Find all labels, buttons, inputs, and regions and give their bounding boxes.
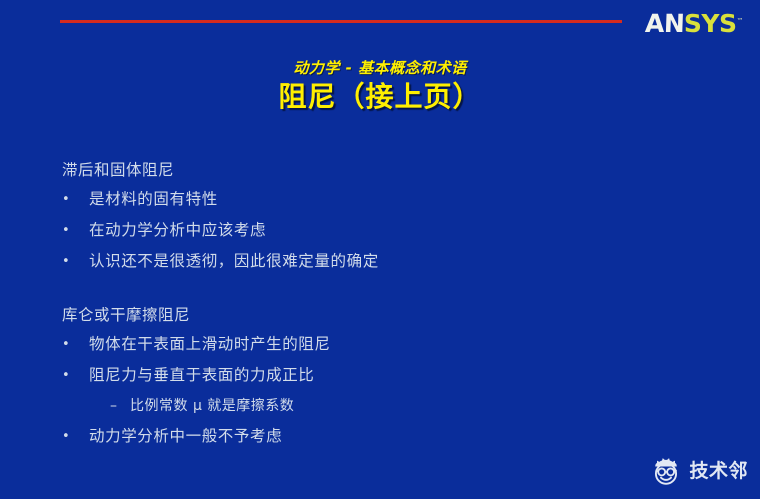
section-heading: 滞后和固体阻尼 (62, 156, 722, 184)
bullet-text: 物体在干表面上滑动时产生的阻尼 (89, 329, 722, 360)
content-section: 库仑或干摩擦阻尼 • 物体在干表面上滑动时产生的阻尼 • 阻尼力与垂直于表面的力… (62, 301, 722, 452)
bullet-text: 认识还不是很透彻，因此很难定量的确定 (89, 246, 722, 277)
slide: ANSYS™ 动力学 - 基本概念和术语 阻尼（接上页） 滞后和固体阻尼 • 是… (0, 0, 760, 499)
bullet-item: • 认识还不是很透彻，因此很难定量的确定 (62, 246, 722, 277)
header-divider-rule (60, 20, 622, 23)
bullet-text: 阻尼力与垂直于表面的力成正比 (89, 360, 722, 391)
bullet-marker: • (62, 215, 89, 246)
section-heading: 库仑或干摩擦阻尼 (62, 301, 722, 329)
bullet-item: • 在动力学分析中应该考虑 (62, 215, 722, 246)
bullet-item: • 阻尼力与垂直于表面的力成正比 (62, 360, 722, 391)
bullet-item: • 动力学分析中一般不予考虑 (62, 421, 722, 452)
sub-bullet-marker: – (110, 391, 130, 421)
bullet-text: 动力学分析中一般不予考虑 (89, 421, 722, 452)
bullet-item: • 是材料的固有特性 (62, 184, 722, 215)
content-section: 滞后和固体阻尼 • 是材料的固有特性 • 在动力学分析中应该考虑 • 认识还不是… (62, 156, 722, 277)
bullet-marker: • (62, 329, 89, 360)
ansys-logo-sys: SYS (684, 12, 737, 36)
bullet-marker: • (62, 360, 89, 391)
slide-body: 滞后和固体阻尼 • 是材料的固有特性 • 在动力学分析中应该考虑 • 认识还不是… (62, 156, 722, 452)
sub-bullet-item: – 比例常数 μ 就是摩擦系数 (62, 391, 722, 421)
bullet-marker: • (62, 421, 89, 452)
slide-header: ANSYS™ (0, 0, 760, 44)
title-block: 动力学 - 基本概念和术语 阻尼（接上页） (0, 58, 760, 115)
ansys-logo-an: AN (644, 12, 684, 36)
sub-bullet-text: 比例常数 μ 就是摩擦系数 (130, 391, 294, 421)
watermark-text: 技术邻 (689, 461, 748, 481)
bullet-text: 是材料的固有特性 (89, 184, 722, 215)
bullet-marker: • (62, 246, 89, 277)
face-with-glasses-gear-icon (648, 453, 684, 489)
slide-subtitle: 动力学 - 基本概念和术语 (0, 58, 760, 78)
slide-title: 阻尼（接上页） (0, 79, 760, 115)
bullet-item: • 物体在干表面上滑动时产生的阻尼 (62, 329, 722, 360)
bullet-marker: • (62, 184, 89, 215)
watermark: 技术邻 (648, 453, 748, 489)
bullet-text: 在动力学分析中应该考虑 (89, 215, 722, 246)
trademark-mark: ™ (737, 17, 744, 25)
ansys-logo: ANSYS™ (645, 9, 743, 33)
